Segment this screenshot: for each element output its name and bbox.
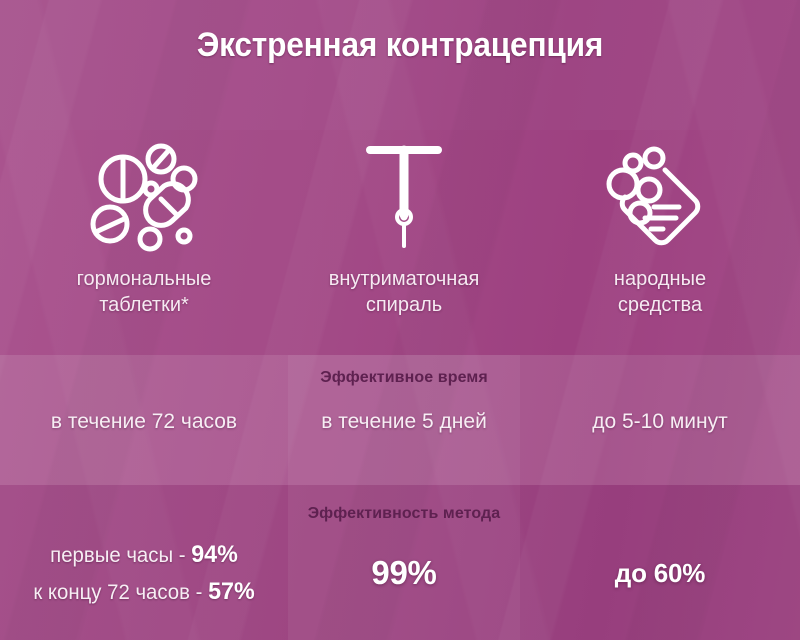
method-label-line2: таблетки* (99, 294, 189, 316)
method-label-line1: внутриматочная (329, 268, 480, 290)
method-label-iud: внутриматочная спираль (288, 266, 520, 318)
iud-coil-icon (288, 140, 520, 250)
method-label-line1: народные (614, 268, 706, 290)
pills-icon (0, 140, 288, 250)
effective-time-value: в течение 5 дней (288, 408, 520, 435)
emergency-contraception-infographic: Экстренная контрацепция (0, 0, 800, 640)
method-label-hormonal-pills: гормональные таблетки* (0, 266, 288, 318)
effectiveness-value-iud: 99% (288, 554, 520, 592)
method-column-iud: внутриматочная спираль (288, 140, 520, 318)
method-column-folk-remedies: народные средства (520, 140, 800, 318)
effective-time-cell-iud: в течение 5 дней (288, 408, 520, 435)
effectiveness-line2-text: к концу 72 часов - (33, 581, 208, 604)
effectiveness-value-folk-remedies: до 60% (520, 558, 800, 589)
page-title: Экстренная контрацепция (28, 26, 772, 65)
method-label-folk-remedies: народные средства (520, 266, 800, 318)
methods-row: гормональные таблетки* (0, 140, 800, 318)
effective-time-cell-folk-remedies: до 5-10 минут (520, 408, 800, 435)
section-heading-effectiveness: Эффективность метода (288, 505, 520, 523)
effective-time-value: в течение 72 часов (0, 408, 288, 435)
effective-time-row: в течение 72 часов в течение 5 дней до 5… (0, 408, 800, 435)
method-label-line2: спираль (366, 294, 442, 316)
effectiveness-value-hormonal-pills: первые часы - 94% к концу 72 часов - 57% (4, 536, 283, 610)
method-column-hormonal-pills: гормональные таблетки* (0, 140, 288, 318)
effectiveness-cell-iud: 99% (288, 554, 520, 592)
effectiveness-line1-text: первые часы - (50, 544, 191, 567)
effectiveness-cell-hormonal-pills: первые часы - 94% к концу 72 часов - 57% (0, 536, 288, 610)
effectiveness-cell-folk-remedies: до 60% (520, 558, 800, 589)
method-label-line1: гормональные (77, 268, 212, 290)
effective-time-cell-hormonal-pills: в течение 72 часов (0, 408, 288, 435)
effective-time-value: до 5-10 минут (520, 408, 800, 435)
effectiveness-line2-value: 57% (208, 578, 255, 605)
method-label-line2: средства (618, 294, 702, 316)
effectiveness-line1-value: 94% (191, 541, 238, 568)
section-heading-effective-time: Эффективное время (288, 369, 520, 387)
soap-bubbles-icon (520, 140, 800, 250)
effectiveness-row: первые часы - 94% к концу 72 часов - 57%… (0, 536, 800, 610)
